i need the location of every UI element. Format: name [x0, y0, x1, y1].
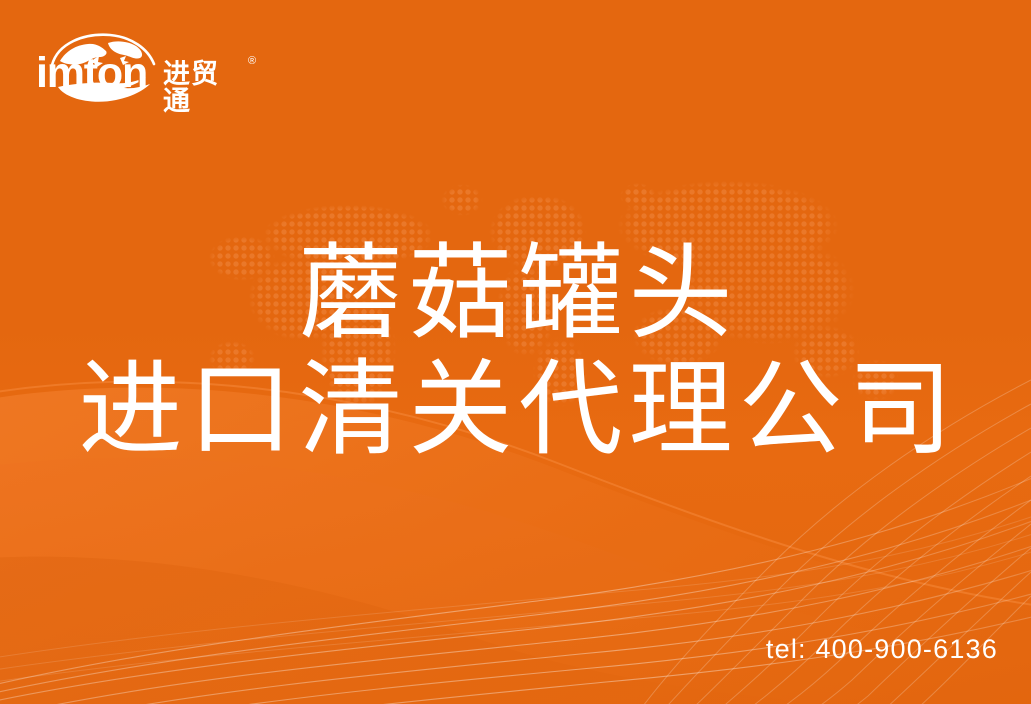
- promotional-banner: imton 进贸通 ® 蘑菇罐头 进口清关代理公司 tel: 400-900-6…: [0, 0, 1031, 704]
- registered-trademark-icon: ®: [248, 56, 256, 67]
- logo-chinese-name: 进贸通: [163, 61, 246, 115]
- brand-logo[interactable]: imton 进贸通 ®: [36, 31, 246, 103]
- headline-line-1: 蘑菇罐头: [0, 236, 1031, 352]
- page-title: 蘑菇罐头 进口清关代理公司: [0, 236, 1031, 468]
- logo-wordmark: imton: [36, 52, 147, 95]
- headline-line-2: 进口清关代理公司: [0, 352, 1031, 468]
- contact-telephone[interactable]: tel: 400-900-6136: [766, 634, 998, 664]
